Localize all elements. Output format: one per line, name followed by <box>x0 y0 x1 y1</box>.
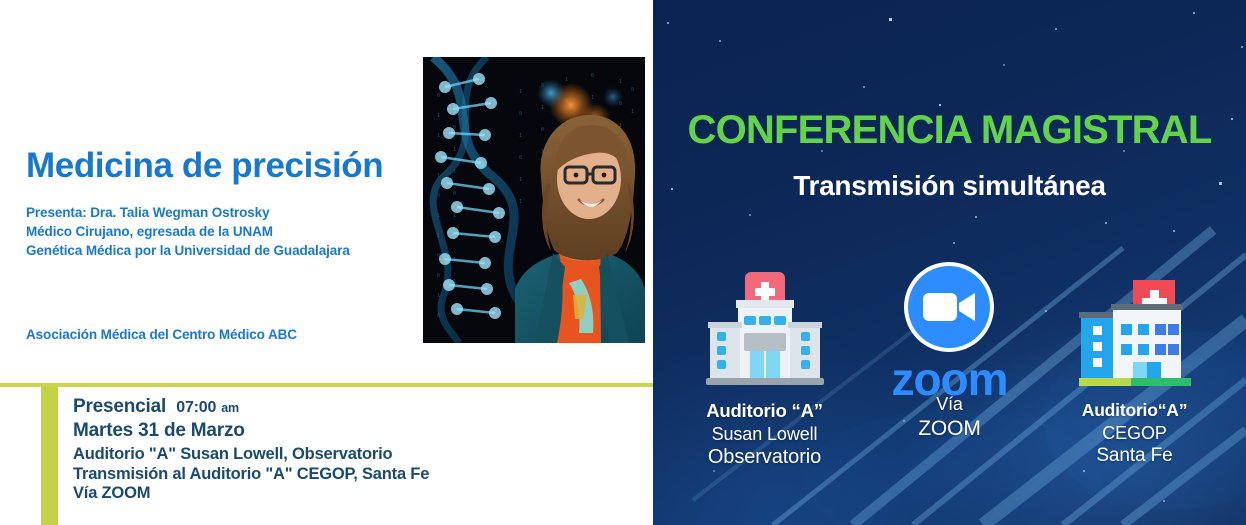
svg-text:1: 1 <box>519 89 522 95</box>
svg-text:0: 0 <box>437 93 440 99</box>
association-label: Asociación Médica del Centro Médico ABC <box>26 327 297 342</box>
page-title: Medicina de precisión <box>26 146 383 186</box>
svg-text:1: 1 <box>631 109 634 115</box>
speaker-portrait-photo: 011 010 110 010 101 101 011 101 011 010 … <box>423 57 645 343</box>
venue-title: Vía <box>936 394 962 415</box>
svg-text:1: 1 <box>453 147 456 153</box>
venue-location: Observatorio <box>708 446 821 469</box>
svg-text:1: 1 <box>453 213 456 219</box>
green-divider-rule <box>0 383 653 387</box>
conference-headline: CONFERENCIA MAGISTRAL <box>653 108 1246 153</box>
zoom-logo-icon: zoom <box>891 268 1007 390</box>
svg-text:1: 1 <box>565 77 568 83</box>
venue-item-zoom: zoom Vía ZOOM <box>857 268 1042 441</box>
svg-text:1: 1 <box>541 105 544 111</box>
svg-text:1: 1 <box>519 177 522 183</box>
event-venue-line-3: Vía ZOOM <box>73 484 429 504</box>
presenter-line-2: Médico Cirujano, egresada de la UNAM <box>26 222 350 241</box>
svg-text:0: 0 <box>631 87 634 93</box>
green-accent-bar <box>41 387 58 525</box>
svg-text:1: 1 <box>437 113 440 119</box>
venue-subtitle: CEGOP <box>1102 423 1167 444</box>
event-details: Presencial 07:00 am Martes 31 de Marzo A… <box>73 396 429 504</box>
svg-text:0: 0 <box>541 127 544 133</box>
venue-list: Auditorio “A” Susan Lowell Observatorio … <box>653 268 1246 469</box>
svg-text:0: 0 <box>519 111 522 117</box>
hospital-building-icon <box>1071 268 1199 390</box>
presenter-line-3: Genética Médica por la Universidad de Gu… <box>26 241 350 260</box>
conference-subheadline: Transmisión simultánea <box>653 170 1246 202</box>
presenter-line-1: Presenta: Dra. Talia Wegman Ostrosky <box>26 203 350 222</box>
svg-text:0: 0 <box>453 191 456 197</box>
left-panel: Medicina de precisión Presenta: Dra. Tal… <box>0 0 653 525</box>
event-venue-line-1: Auditorio "A" Susan Lowell, Observatorio <box>73 445 429 465</box>
presenter-info: Presenta: Dra. Talia Wegman Ostrosky Méd… <box>26 203 350 260</box>
svg-text:1: 1 <box>519 133 522 139</box>
venue-title: Auditorio “A” <box>706 400 823 422</box>
right-panel: CONFERENCIA MAGISTRAL Transmisión simult… <box>653 0 1246 525</box>
svg-text:1: 1 <box>619 79 622 85</box>
event-poster: Medicina de precisión Presenta: Dra. Tal… <box>0 0 1246 525</box>
event-ampm: am <box>221 401 239 415</box>
event-mode: Presencial <box>73 396 166 417</box>
svg-text:1: 1 <box>519 199 522 205</box>
venue-subtitle: Susan Lowell <box>712 424 818 445</box>
svg-text:0: 0 <box>591 73 594 79</box>
svg-text:1: 1 <box>437 133 440 139</box>
venue-title: Auditorio“A” <box>1082 400 1188 421</box>
event-time: 07:00 <box>176 399 216 416</box>
hospital-building-icon <box>700 268 830 390</box>
venue-location: Santa Fe <box>1096 445 1172 467</box>
event-venue-line-2: Transmisión al Auditorio "A" CEGOP, Sant… <box>73 465 429 485</box>
event-date: Martes 31 de Marzo <box>73 419 429 442</box>
svg-text:0: 0 <box>519 155 522 161</box>
zoom-wordmark: zoom <box>891 359 1007 399</box>
venue-subtitle: ZOOM <box>918 417 981 441</box>
venue-item-observatorio: Auditorio “A” Susan Lowell Observatorio <box>672 268 857 469</box>
svg-text:0: 0 <box>437 273 440 279</box>
event-mode-time: Presencial 07:00 am <box>73 396 429 419</box>
venue-item-cegop: Auditorio“A” CEGOP Santa Fe <box>1042 268 1227 467</box>
